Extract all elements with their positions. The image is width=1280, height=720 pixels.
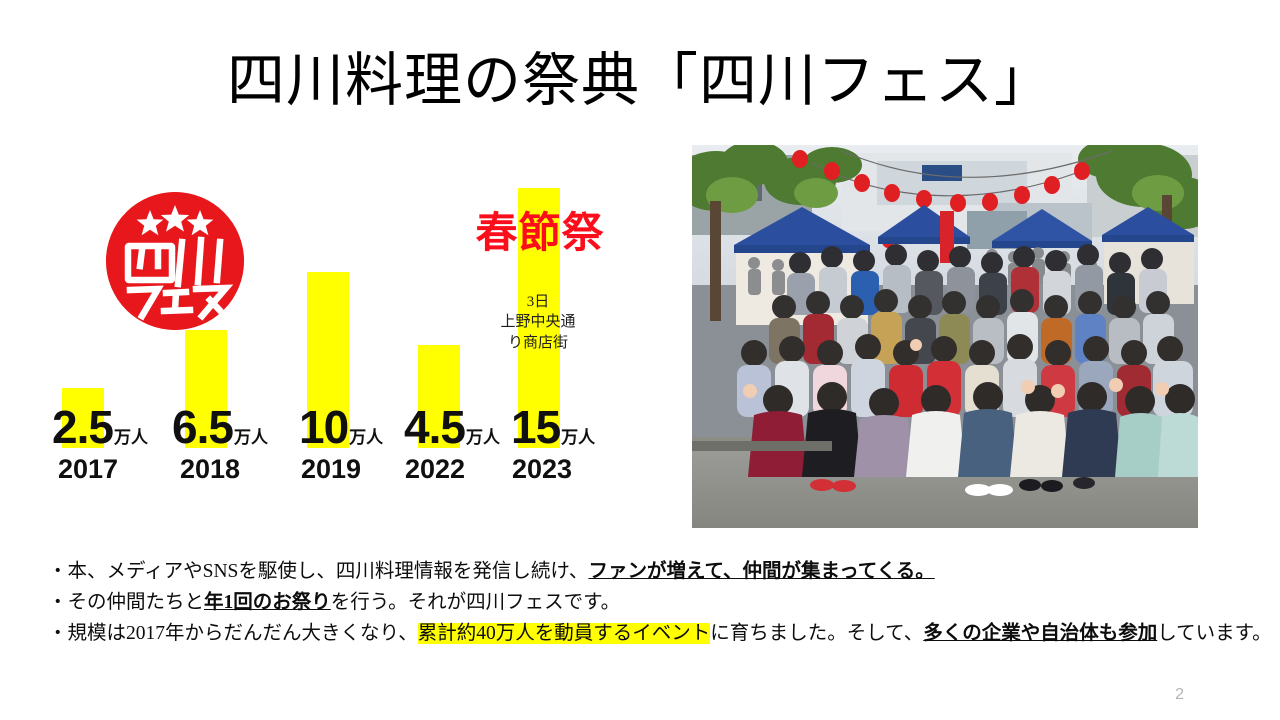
bullet-2-seg-1: ・その仲間たちと [48,592,204,613]
annotation-detail-line-3: り商店街 [488,333,588,353]
category-label-2018: 2018 [180,456,240,483]
bullet-3-seg-5: しています。 [1157,623,1271,644]
festival-group-photo [692,145,1198,528]
bullet-3-seg-1: ・規模は2017年からだんだん大きくなり、 [48,623,418,644]
value-unit-2017: 万人 [114,428,148,447]
shisen-fes-logo [106,192,244,330]
value-number-2022: 4.5 [404,401,465,453]
value-unit-2022: 万人 [466,428,500,447]
annotation-detail-line-2: 上野中央通 [488,312,588,332]
bullet-line-3: ・規模は2017年からだんだん大きくなり、累計約40万人を動員するイベントに育ち… [48,618,1263,649]
page-title: 四川料理の祭典「四川フェス」 [0,52,1280,110]
value-unit-2019: 万人 [349,428,383,447]
category-label-2019: 2019 [301,456,361,483]
annotation-2023-detail: 3日 上野中央通 り商店街 [488,292,588,353]
value-label-2022: 4.5万人 [404,404,500,450]
value-unit-2023: 万人 [561,428,595,447]
bullet-line-1: ・本、メディアやSNSを駆使し、四川料理情報を発信し続け、ファンが増えて、仲間が… [48,556,1263,587]
annotation-detail-line-1: 3日 [488,292,588,312]
bullet-1-seg-2: ファンが増えて、仲間が集まってくる。 [588,561,934,582]
value-label-2023: 15万人 [511,404,595,450]
annotation-2023-headline: 春節祭 [468,213,612,255]
body-bullets: ・本、メディアやSNSを駆使し、四川料理情報を発信し続け、ファンが増えて、仲間が… [48,556,1263,649]
bullet-3-seg-2: 累計約40万人を動員するイベント [418,623,711,644]
bullet-3-seg-3: に育ちました。そして、 [710,623,923,644]
value-number-2018: 6.5 [172,401,233,453]
category-label-2023: 2023 [512,456,572,483]
value-number-2019: 10 [299,401,348,453]
slide-root: 四川料理の祭典「四川フェス」 [0,0,1280,720]
category-label-2017: 2017 [58,456,118,483]
value-label-2017: 2.5万人 [52,404,148,450]
value-number-2023: 15 [511,401,560,453]
bullet-2-seg-2: 年1回のお祭り [204,592,331,613]
bullet-2-seg-3: を行う。それが四川フェスです。 [331,592,620,613]
value-unit-2018: 万人 [234,428,268,447]
category-label-2022: 2022 [405,456,465,483]
value-label-2019: 10万人 [299,404,383,450]
value-label-2018: 6.5万人 [172,404,268,450]
bullet-3-seg-4: 多くの企業や自治体も参加 [923,623,1157,644]
value-number-2017: 2.5 [52,401,113,453]
bullet-line-2: ・その仲間たちと年1回のお祭りを行う。それが四川フェスです。 [48,587,1263,618]
bullet-1-seg-1: ・本、メディアやSNSを駆使し、四川料理情報を発信し続け、 [48,561,588,582]
page-number: 2 [1175,686,1184,704]
